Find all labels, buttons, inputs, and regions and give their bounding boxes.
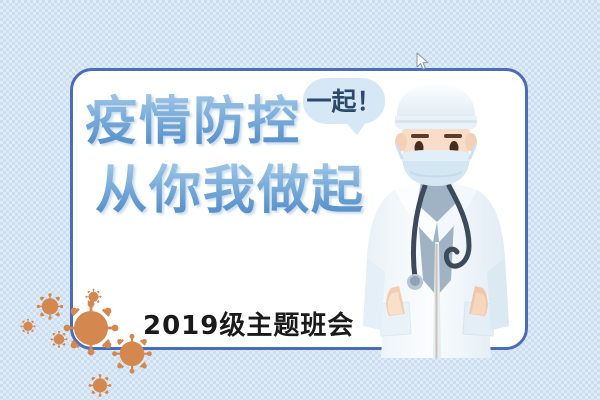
virus-particle-small-1 [36,292,64,320]
poster-subtitle: 2019级主题班会 [143,305,354,342]
virus-particle-small-5 [20,318,36,334]
mouse-pointer-icon [416,52,430,77]
virus-particle-small-4 [88,373,112,397]
doctor-illustration [355,82,520,382]
poster-canvas: 疫情防控 从你我做起 疫情防控 从你我做起 2019级主题班会 一起！ [0,0,600,400]
virus-particle-small-3 [85,288,102,305]
virus-particle-medium [111,332,153,374]
virus-particle-small-2 [50,330,68,348]
